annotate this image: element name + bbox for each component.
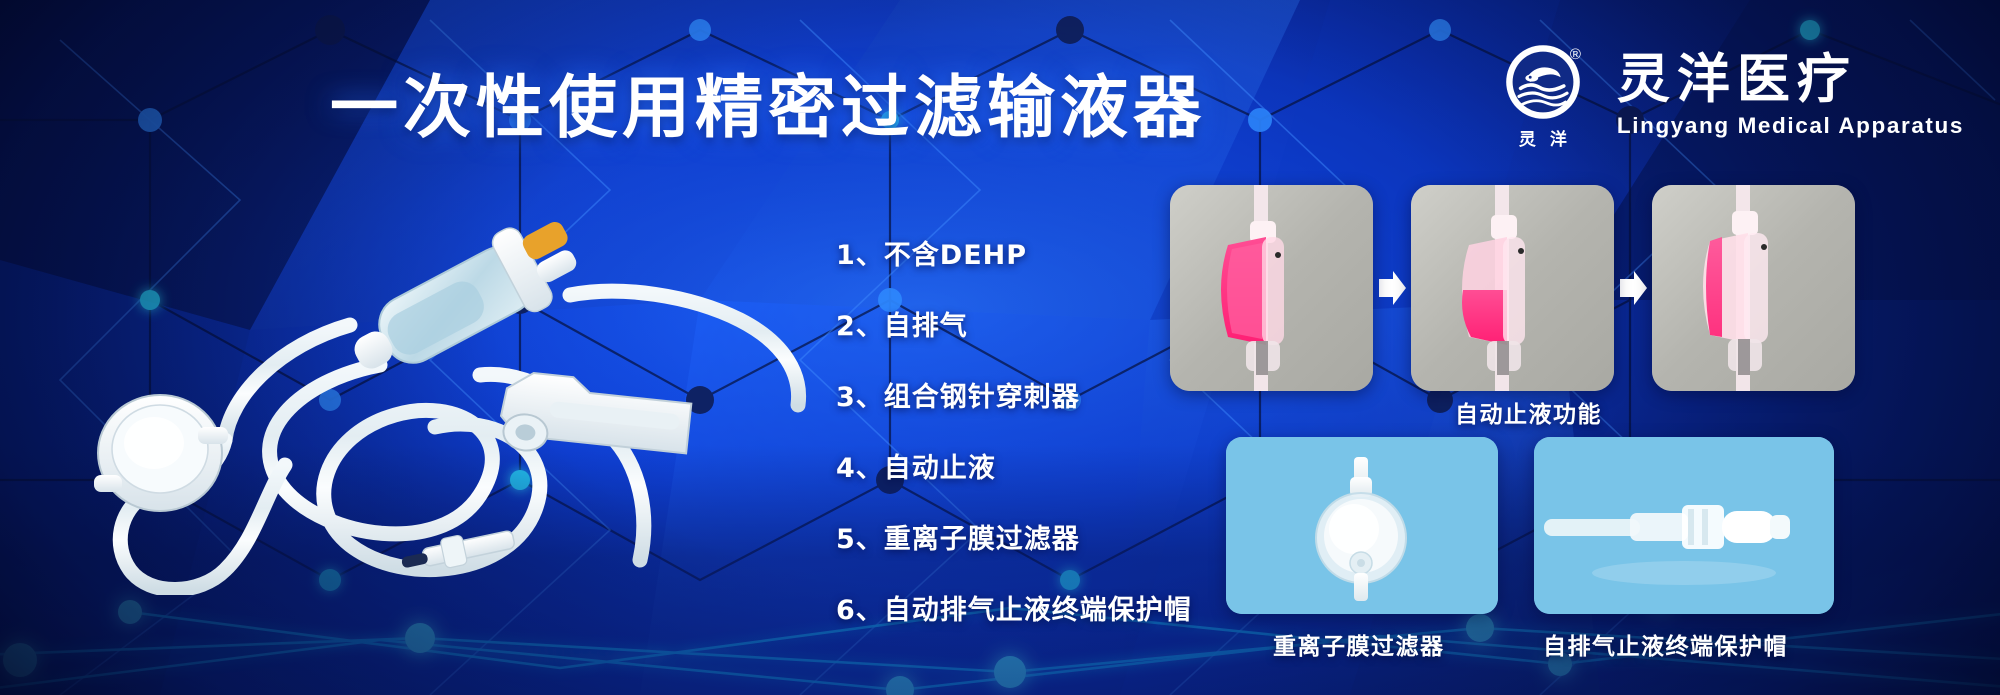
component-panel-filter: [1226, 437, 1498, 614]
component-panel-protective-cap: [1534, 437, 1834, 614]
brand-text: 灵洋医疗 Lingyang Medical Apparatus: [1617, 53, 1964, 138]
luer-cap-icon: [1534, 437, 1834, 614]
product-banner: 一次性使用精密过滤输液器 ® 灵洋 灵洋医疗 Lingyang: [0, 0, 2000, 695]
drip-chamber-full-icon: [1170, 185, 1373, 391]
component-panel-row: [1226, 437, 1834, 614]
brand-logo: ® 灵洋 灵洋医疗 Lingyang Medical Apparatus: [1495, 42, 1964, 150]
feature-item-3: 3、组合钢针穿刺器: [836, 370, 1192, 426]
auto-stop-demo-row: [1170, 185, 1855, 391]
feature-item-4: 4、自动止液: [836, 441, 1192, 497]
iv-infusion-set-icon: [50, 165, 810, 595]
drip-chamber-half-icon: [1411, 185, 1614, 391]
feature-item-1: 1、不含DEHP: [836, 228, 1192, 284]
brand-name-cn: 灵洋医疗: [1617, 53, 1964, 107]
feature-item-6: 6、自动排气止液终端保护帽: [836, 583, 1192, 639]
auto-stop-caption: 自动止液功能: [1455, 395, 1602, 429]
logo-mark: ® 灵洋: [1495, 42, 1591, 150]
auto-stop-step-3-photo: [1652, 185, 1855, 391]
auto-stop-step-1-photo: [1170, 185, 1373, 391]
round-filter-icon: [1226, 437, 1498, 614]
arrow-right-icon-2: [1614, 269, 1652, 307]
auto-stop-step-2-photo: [1411, 185, 1614, 391]
lingyang-circular-emblem-icon: ®: [1503, 42, 1583, 122]
registered-mark: ®: [1570, 46, 1581, 63]
drip-chamber-empty-icon: [1652, 185, 1855, 391]
feature-item-2: 2、自排气: [836, 299, 1192, 355]
feature-list: 1、不含DEHP 2、自排气 3、组合钢针穿刺器 4、自动止液 5、重离子膜过滤…: [836, 228, 1192, 639]
feature-item-5: 5、重离子膜过滤器: [836, 512, 1192, 568]
page-title: 一次性使用精密过滤输液器: [330, 52, 1206, 151]
product-photo: [50, 165, 810, 595]
arrow-right-icon-1: [1373, 269, 1411, 307]
round-filter: [94, 395, 228, 511]
component-caption-protective-cap: 自排气止液终端保护帽: [1543, 627, 1788, 661]
brand-name-en: Lingyang Medical Apparatus: [1617, 113, 1964, 139]
logo-mark-caption: 灵洋: [1495, 125, 1591, 150]
component-caption-filter: 重离子膜过滤器: [1273, 627, 1445, 661]
